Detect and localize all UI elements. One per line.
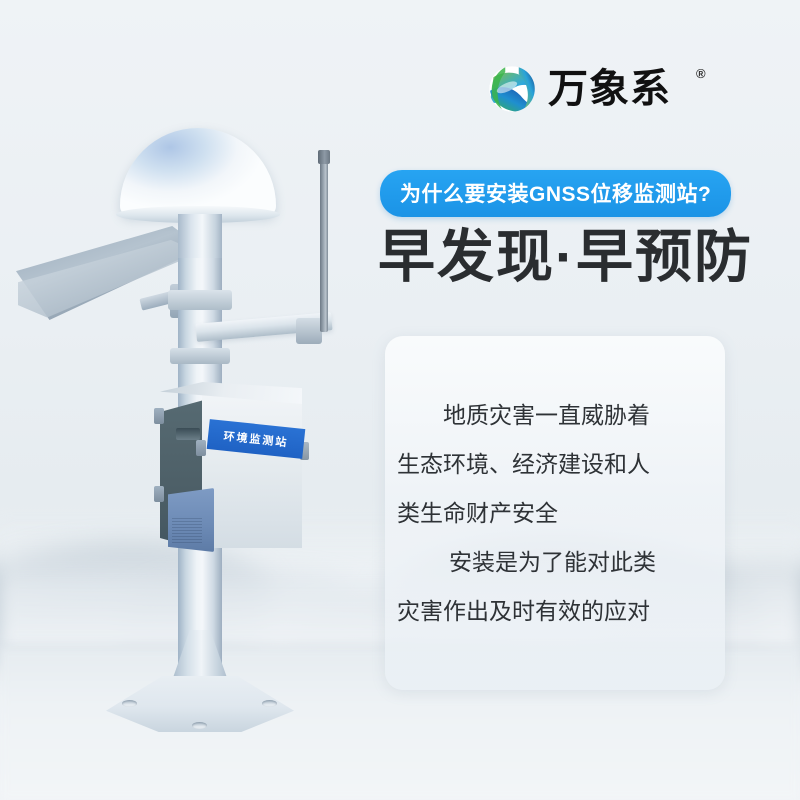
page-title: 早发现·早预防 (378, 226, 753, 289)
antenna-rod-cap (318, 150, 330, 164)
content-column: 万象系 ® 为什么要安装GNSS位移监测站? 早发现·早预防 地质灾害一直威胁着… (370, 0, 800, 800)
vent-grille (172, 518, 202, 544)
base-bolt-hole (262, 700, 277, 707)
pole-collar-lower (170, 348, 230, 364)
enclosure-label-text: 环境监测站 (223, 428, 289, 451)
body-line: 灾害作出及时有效的应对 (397, 600, 713, 623)
swirl-globe-logo-icon (485, 62, 539, 116)
enclosure-clip (154, 408, 164, 424)
gnss-antenna-dome-icon (120, 128, 276, 216)
whip-antenna-rod-icon (320, 152, 328, 332)
enclosure-slot (176, 428, 200, 440)
registered-trademark-icon: ® (696, 67, 707, 80)
body-line: 类生命财产安全 (397, 502, 713, 525)
cross-arm-clamp (296, 318, 322, 344)
antenna-neck (178, 214, 222, 258)
brand-lockup: 万象系 ® (485, 62, 671, 116)
question-badge-text: 为什么要安装GNSS位移监测站? (400, 183, 711, 206)
body-line: 生态环境、经济建设和人 (397, 453, 713, 476)
brand-name: 万象系 ® (548, 69, 671, 109)
brand-name-text: 万象系 (548, 67, 671, 111)
body-line: 地质灾害一直威胁着 (397, 404, 713, 427)
gnss-station-illustration: 环境监测站 (0, 0, 400, 800)
poster-canvas: 环境监测站 (0, 0, 800, 800)
pole-collar-upper (168, 290, 232, 310)
base-bolt-hole (192, 722, 207, 729)
enclosure-clip (154, 486, 164, 502)
base-bolt-hole (122, 700, 137, 707)
enclosure-clip (196, 440, 206, 456)
enclosure-front-panel (202, 390, 302, 548)
body-line: 安装是为了能对此类 (397, 551, 713, 574)
body-text-lines: 地质灾害一直威胁着 生态环境、经济建设和人 类生命财产安全 安装是为了能对此类 … (385, 336, 725, 690)
body-text-panel: 地质灾害一直威胁着 生态环境、经济建设和人 类生命财产安全 安装是为了能对此类 … (385, 336, 725, 690)
question-badge[interactable]: 为什么要安装GNSS位移监测站? (380, 170, 731, 217)
